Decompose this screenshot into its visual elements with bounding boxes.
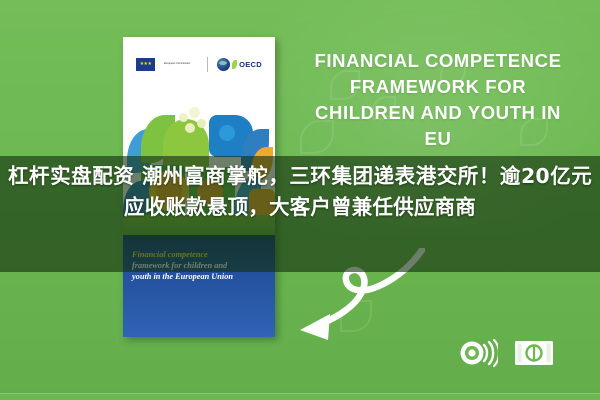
illustration-shape [179, 113, 188, 122]
globe-icon [217, 58, 230, 71]
oecd-logo: OECD [217, 58, 262, 71]
illustration-shape [189, 107, 200, 118]
poster-headline-line-4: EU [282, 126, 594, 152]
brochure-logo-row: ★★★ European Commission OECD [123, 51, 275, 77]
poster-headline: FINANCIAL COMPETENCE FRAMEWORK FOR CHILD… [282, 48, 594, 152]
eu-flag-icon: ★★★ [136, 58, 155, 71]
logo-divider [207, 57, 208, 72]
leaf-icon [232, 60, 237, 69]
poster-headline-line-1: FINANCIAL COMPETENCE [282, 48, 594, 74]
banknote-icon [514, 338, 554, 368]
brochure-title-line-3: youth in the European Union [132, 271, 269, 282]
illustration-shape [197, 119, 206, 128]
eu-flag-stars: ★★★ [136, 58, 155, 71]
poster-icon-row [458, 330, 576, 376]
poster-headline-line-3: CHILDREN AND YOUTH IN [282, 100, 594, 126]
illustration-shape [219, 125, 235, 141]
eu-commission-label: European Commission [164, 62, 198, 65]
poster-headline-line-2: FRAMEWORK FOR [282, 74, 594, 100]
bottom-strip [0, 393, 600, 400]
illustration-shape [185, 123, 195, 133]
oecd-label: OECD [239, 60, 262, 69]
coin-with-sound-waves-icon [458, 337, 498, 369]
screenshot-canvas: FINANCIAL COMPETENCE FRAMEWORK FOR CHILD… [0, 0, 600, 400]
overlay-headline: 杠杆实盘配资 潮州富商掌舵，三环集团递表港交所！逾20亿元应收账款悬顶，大客户曾… [8, 161, 592, 223]
